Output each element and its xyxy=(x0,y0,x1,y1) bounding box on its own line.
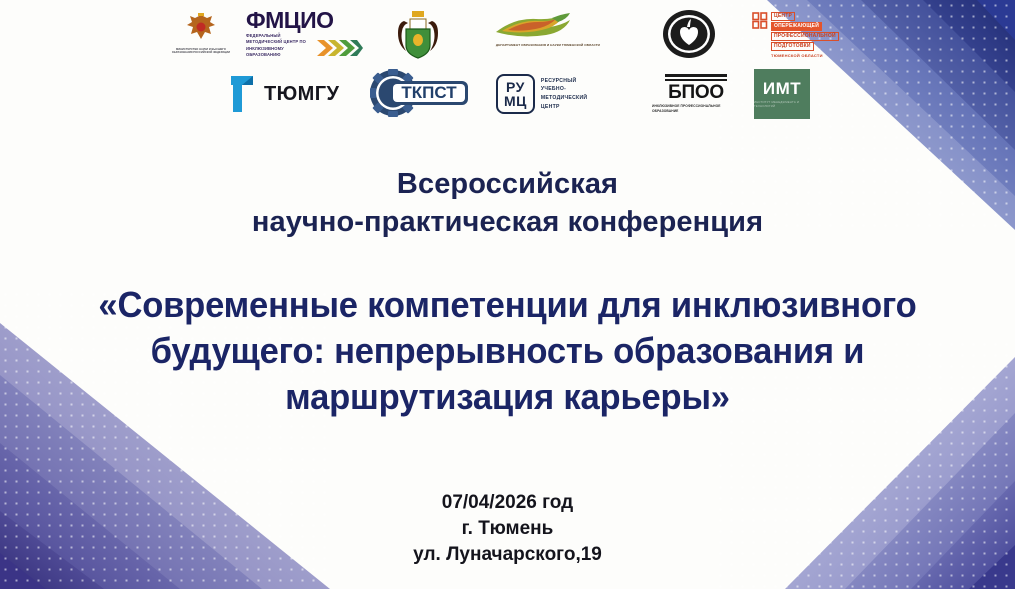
logo-rumc: РУ МЦ РЕСУРСНЫЙ УЧЕБНО- МЕТОДИЧЕСКИЙ ЦЕН… xyxy=(496,68,626,120)
conference-headline: Всероссийская научно-практическая конфер… xyxy=(0,165,1015,242)
event-address: ул. Луначарского,19 xyxy=(0,542,1015,568)
double-headed-eagle-icon xyxy=(181,12,221,46)
logo-fmcio-name: ФМЦИО xyxy=(246,10,363,31)
gear-wrench-icon: ТКПСТ xyxy=(368,69,472,117)
logo-rumc-caption-line3: МЕТОДИЧЕСКИЙ xyxy=(541,94,588,103)
logo-bpoo-name: БПОО xyxy=(668,83,724,102)
logo-imt-name: ИМТ xyxy=(763,80,801,97)
copp-line-2: ОПЕРЕЖАЮЩЕЙ xyxy=(771,22,822,31)
logo-tkpst-name: ТКПСТ xyxy=(401,83,457,102)
logo-heart-hand-circle xyxy=(662,8,718,60)
tyumgu-mark-icon xyxy=(228,72,258,116)
logo-departament-caption: ДЕПАРТАМЕНТ ОБРАЗОВАНИЯ И НАУКИ ТЮМЕНСКО… xyxy=(496,43,600,47)
logo-rumc-caption-line4: ЦЕНТР xyxy=(541,103,588,112)
logo-rumc-caption-line1: РЕСУРСНЫЙ xyxy=(541,77,588,86)
logo-fmcio: ФМЦИО ФЕДЕРАЛЬНЫЙ МЕТОДИЧЕСКИЙ ЦЕНТР ПО … xyxy=(246,8,370,60)
logo-rumc-caption: РЕСУРСНЫЙ УЧЕБНО- МЕТОДИЧЕСКИЙ ЦЕНТР xyxy=(541,77,588,112)
copp-line-1: ЦЕНТР xyxy=(771,12,795,21)
logo-bpoo: БПОО ИНКЛЮЗИВНОЕ ПРОФЕССИОНАЛЬНОЕ ОБРАЗО… xyxy=(652,68,740,120)
copp-mark-icon xyxy=(752,12,768,29)
copp-region: ТЮМЕНСКОЙ ОБЛАСТИ xyxy=(771,53,839,58)
logo-tyumgu-name: ТЮМГУ xyxy=(264,83,339,106)
chevrons-icon xyxy=(317,38,363,58)
headline-line-1: Всероссийская xyxy=(0,165,1015,203)
logo-fmcio-caption: ФЕДЕРАЛЬНЫЙ МЕТОДИЧЕСКИЙ ЦЕНТР ПО ИНКЛЮЗ… xyxy=(246,33,314,58)
logo-minobrnauki: МИНИСТЕРСТВО НАУКИ И ВЫСШЕГО ОБРАЗОВАНИЯ… xyxy=(165,6,237,60)
logo-tyumen-coat-of-arms xyxy=(392,6,446,62)
logo-rumc-box-line1: РУ xyxy=(504,80,527,94)
conference-title: «Современные компетенции для инклюзивног… xyxy=(20,282,994,420)
logo-tkpst: ТКПСТ xyxy=(368,68,474,118)
logo-imt-caption: ИНСТИТУТ МЕНЕДЖМЕНТА И ТЕХНОЛОГИЙ xyxy=(754,100,810,108)
event-city: г. Тюмень xyxy=(0,516,1015,542)
heart-in-circle-icon xyxy=(662,9,716,59)
logo-imt: ИМТ ИНСТИТУТ МЕНЕДЖМЕНТА И ТЕХНОЛОГИЙ xyxy=(754,68,812,120)
copp-line-4: ПОДГОТОВКИ xyxy=(771,42,814,51)
colorful-bird-icon xyxy=(492,12,600,42)
conference-slide: МИНИСТЕРСТВО НАУКИ И ВЫСШЕГО ОБРАЗОВАНИЯ… xyxy=(0,0,1015,589)
logo-rumc-caption-line2: УЧЕБНО- xyxy=(541,85,588,94)
conference-title-line-3: маршрутизация карьеры» xyxy=(20,374,994,420)
logo-rumc-box: РУ МЦ xyxy=(496,74,535,114)
coat-of-arms-icon xyxy=(392,7,444,61)
copp-line-3: ПРОФЕССИОНАЛЬНОЙ xyxy=(771,32,839,41)
logo-bpoo-caption: ИНКЛЮЗИВНОЕ ПРОФЕССИОНАЛЬНОЕ ОБРАЗОВАНИЕ xyxy=(652,104,740,114)
logo-minobrnauki-caption: МИНИСТЕРСТВО НАУКИ И ВЫСШЕГО ОБРАЗОВАНИЯ… xyxy=(166,48,236,55)
logo-copp: ЦЕНТР ОПЕРЕЖАЮЩЕЙ ПРОФЕССИОНАЛЬНОЙ ПОДГО… xyxy=(752,8,838,62)
logo-departament-obrazovaniya: ДЕПАРТАМЕНТ ОБРАЗОВАНИЯ И НАУКИ ТЮМЕНСКО… xyxy=(478,12,600,60)
conference-title-line-2: будущего: непрерывность образования и xyxy=(20,328,994,374)
event-info: 07/04/2026 год г. Тюмень ул. Луначарског… xyxy=(0,490,1015,569)
logo-rumc-box-line2: МЦ xyxy=(504,94,527,108)
partner-logo-strip: МИНИСТЕРСТВО НАУКИ И ВЫСШЕГО ОБРАЗОВАНИЯ… xyxy=(0,2,1015,124)
conference-title-line-1: «Современные компетенции для инклюзивног… xyxy=(20,282,994,328)
headline-line-2: научно-практическая конференция xyxy=(0,203,1015,241)
event-date: 07/04/2026 год xyxy=(0,490,1015,516)
logo-imt-box: ИМТ ИНСТИТУТ МЕНЕДЖМЕНТА И ТЕХНОЛОГИЙ xyxy=(754,69,810,119)
logo-tyumgu: ТЮМГУ xyxy=(228,68,350,120)
